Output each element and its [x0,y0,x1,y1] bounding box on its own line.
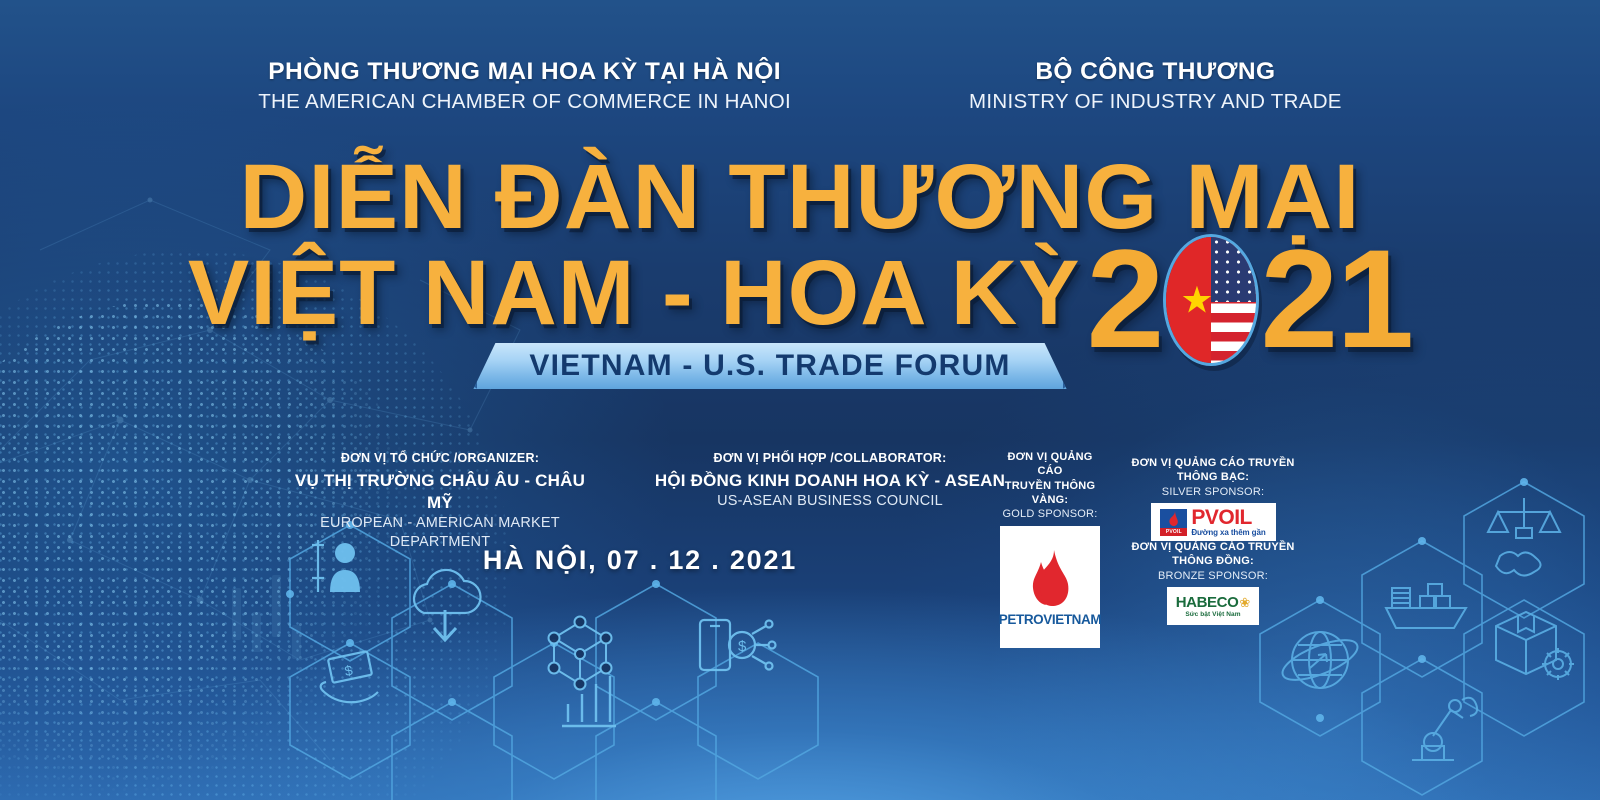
pvoil-logo: PVOIL PVOIL Đường xa thêm gần [1151,503,1276,541]
event-title-block: DIỄN ĐÀN THƯƠNG MẠI VIỆT NAM - HOA KỲ 2 … [0,150,1600,366]
petrovietnam-wordmark: PETROVIETNAM [999,612,1101,627]
network-lines-background [0,0,1600,800]
gold-label-vn-1: ĐƠN VỊ QUẢNG CÁO [996,450,1104,479]
habeco-row: HABECO ❀ [1176,594,1251,611]
organizer-name-vn: VỤ THỊ TRƯỜNG CHÂU ÂU - CHÂU MỸ [290,470,590,514]
collaborator-name-en: US-ASEAN BUSINESS COUNCIL [650,492,1010,511]
event-banner: $ $ [0,0,1600,800]
collaborator-label: ĐƠN VỊ PHỐI HỢP /COLLABORATOR: [650,450,1010,467]
pvoil-flame-icon [1160,509,1187,528]
header-organizations: PHÒNG THƯƠNG MẠI HOA KỲ TẠI HÀ NỘI THE A… [0,58,1600,116]
pvoil-mark-icon: PVOIL [1160,509,1187,536]
bronze-label-en: BRONZE SPONSOR: [1113,569,1313,584]
ribbon-tail-right [1063,349,1089,389]
ribbon-tail-left [451,349,477,389]
event-date: HÀ NỘI, 07 . 12 . 2021 [340,545,940,576]
collaborator-name-vn: HỘI ĐỒNG KINH DOANH HOA KỲ - ASEAN [650,470,1010,492]
habeco-tagline: Sức bật Việt Nam [1185,611,1240,618]
sponsor-bronze: ĐƠN VỊ QUẢNG CÁO TRUYỀN THÔNG ĐỒNG: BRON… [1113,540,1313,625]
partner-organizer: ĐƠN VỊ TỔ CHỨC /ORGANIZER: VỤ THỊ TRƯỜNG… [290,450,590,552]
vietnam-star-icon: ★ [1180,281,1213,318]
gold-label-en: GOLD SPONSOR: [996,507,1104,522]
pvoil-mark-text: PVOIL [1160,528,1187,536]
sponsor-gold: ĐƠN VỊ QUẢNG CÁO TRUYỀN THÔNG VÀNG: GOLD… [996,450,1104,648]
amcham-name-vn: PHÒNG THƯƠNG MẠI HOA KỲ TẠI HÀ NỘI [258,58,791,87]
pvoil-tagline: Đường xa thêm gần [1191,529,1265,537]
flame-icon [1024,548,1076,610]
partner-collaborator: ĐƠN VỊ PHỐI HỢP /COLLABORATOR: HỘI ĐỒNG … [650,450,1010,511]
amcham-name-en: THE AMERICAN CHAMBER OF COMMERCE IN HANO… [258,89,791,116]
habeco-wordmark: HABECO [1176,594,1239,611]
silver-label-vn: ĐƠN VỊ QUẢNG CÁO TRUYỀN THÔNG BẠC: [1115,456,1311,485]
habeco-flower-icon: ❀ [1239,596,1250,609]
subtitle-ribbon: VIETNAM - U.S. TRADE FORUM [473,343,1066,389]
pvoil-text-block: PVOIL Đường xa thêm gần [1191,507,1265,537]
gold-label-vn-2: TRUYỀN THÔNG VÀNG: [996,479,1104,508]
us-flag-canton [1211,237,1256,303]
subtitle-text: VIETNAM - U.S. TRADE FORUM [529,349,1010,383]
moit-name-vn: BỘ CÔNG THƯƠNG [969,58,1342,87]
title-line-2: VIỆT NAM - HOA KỲ [188,246,1081,342]
moit-name-en: MINISTRY OF INDUSTRY AND TRADE [969,89,1342,116]
sponsor-silver: ĐƠN VỊ QUẢNG CÁO TRUYỀN THÔNG BẠC: SILVE… [1115,456,1311,541]
bronze-label-vn: ĐƠN VỊ QUẢNG CÁO TRUYỀN THÔNG ĐỒNG: [1113,540,1313,569]
silver-label-en: SILVER SPONSOR: [1115,485,1311,500]
petrovietnam-logo: PETROVIETNAM [1000,526,1100,648]
org-amcham: PHÒNG THƯƠNG MẠI HOA KỲ TẠI HÀ NỘI THE A… [258,58,791,116]
organizer-label: ĐƠN VỊ TỔ CHỨC /ORGANIZER: [290,450,590,467]
org-moit: BỘ CÔNG THƯƠNG MINISTRY OF INDUSTRY AND … [969,58,1342,116]
petrovietnam-flame-svg [1024,548,1076,610]
habeco-logo: HABECO ❀ Sức bật Việt Nam [1167,587,1259,625]
subtitle-ribbon-wrap: VIETNAM - U.S. TRADE FORUM [0,343,1600,389]
pvoil-wordmark: PVOIL [1191,506,1252,529]
